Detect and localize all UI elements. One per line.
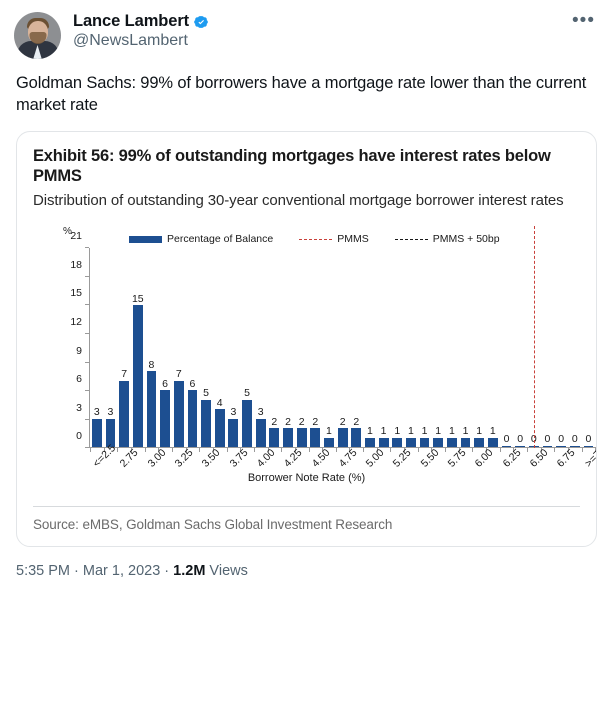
bar[interactable]: 7 [119,381,129,447]
author-display-name[interactable]: Lance Lambert [73,12,189,31]
bar-value-label: 1 [367,426,373,437]
legend-bar-swatch-icon [129,236,162,243]
legend-item-pmms-50bp: PMMS + 50bp [395,233,500,245]
bar-value-label: 8 [149,360,155,371]
bar-value-label: 1 [476,426,482,437]
bar-value-label: 1 [435,426,441,437]
y-axis-tick-mark [85,276,89,277]
bar[interactable]: 2 [269,428,279,447]
bar-slot: 1 [418,248,432,447]
bar[interactable]: 0 [502,446,512,448]
legend-label: Percentage of Balance [167,233,273,245]
bar[interactable]: 5 [242,400,252,447]
bar-value-label: 6 [189,379,195,390]
bar-value-label: 0 [545,434,551,445]
bar[interactable]: 1 [392,438,402,447]
bar-value-label: 2 [353,417,359,428]
bar-value-label: 1 [326,426,332,437]
bar[interactable]: 0 [570,446,580,448]
bar-value-label: 15 [132,294,144,305]
bar[interactable]: 2 [338,428,348,447]
bar-value-label: 1 [422,426,428,437]
bar-value-label: 1 [463,426,469,437]
legend-dashed-line-icon [299,239,332,240]
bar-value-label: 1 [408,426,414,437]
bar-value-label: 7 [121,369,127,380]
bar-slot: 15 [131,248,145,447]
bar-slot: 1 [459,248,473,447]
bar[interactable]: 7 [174,381,184,447]
bar-value-label: 2 [271,417,277,428]
bar-slot: 2 [309,248,323,447]
bar[interactable]: 1 [447,438,457,447]
bar-slot: 3 [227,248,241,447]
bar[interactable]: 3 [256,419,266,447]
bar[interactable]: 8 [147,371,157,447]
bar-slot: 5 [240,248,254,447]
bar-slot: 1 [431,248,445,447]
bar-slot: 0 [500,248,514,447]
bar-slot: 0 [513,248,527,447]
bar[interactable]: 0 [543,446,553,448]
bar-value-label: 1 [394,426,400,437]
bar-value-label: 1 [449,426,455,437]
chart-card-body: Exhibit 56: 99% of outstanding mortgages… [17,132,596,497]
y-axis-tick-mark [85,419,89,420]
y-axis-tick-mark [85,362,89,363]
chart-card[interactable]: Exhibit 56: 99% of outstanding mortgages… [16,131,597,548]
bar-slot: 7 [172,248,186,447]
bar-slot: 1 [595,248,597,447]
bar-slot: 1 [445,248,459,447]
bar-value-label: 2 [312,417,318,428]
bar[interactable]: 0 [515,446,525,448]
bar-slot: 3 [90,248,104,447]
views-count: 1.2M [173,563,205,579]
bar-slot: 2 [349,248,363,447]
bar-value-label: 0 [504,434,510,445]
bar-slot: 1 [363,248,377,447]
bar[interactable]: 1 [420,438,430,447]
y-axis-tick-mark [85,247,89,248]
bar[interactable]: 3 [228,419,238,447]
legend-label: PMMS [337,233,369,245]
bar-slot: 6 [158,248,172,447]
legend-item-pmms: PMMS [299,233,369,245]
bar-slot: 1 [486,248,500,447]
bar-slot: 7 [117,248,131,447]
bar[interactable]: 2 [297,428,307,447]
bar[interactable]: 2 [310,428,320,447]
bar-slot: 0 [554,248,568,447]
bar[interactable]: 1 [488,438,498,447]
bar-slot: 2 [336,248,350,447]
bar-slot: 0 [568,248,582,447]
legend-dashed-line-icon [395,239,428,240]
y-axis-tick-mark [85,304,89,305]
bar[interactable]: 2 [351,428,361,447]
author-block: Lance Lambert @NewsLambert [73,12,572,51]
bar[interactable]: 15 [133,305,143,447]
bar-value-label: 2 [285,417,291,428]
bar[interactable]: 6 [160,390,170,447]
tweet-header: Lance Lambert @NewsLambert ••• [0,0,613,59]
bar[interactable]: 3 [92,419,102,447]
bar[interactable]: 1 [406,438,416,447]
tweet-timestamp: 5:35 PM · Mar 1, 2023 · [16,563,173,579]
y-axis-tick-mark [85,333,89,334]
tweet-footer: 5:35 PM · Mar 1, 2023 · 1.2M Views [0,547,613,579]
avatar[interactable] [14,12,61,59]
bar-slot: 1 [322,248,336,447]
bar-value-label: 5 [203,388,209,399]
x-axis-title: Borrower Note Rate (%) [33,472,580,484]
bar[interactable]: 5 [201,400,211,447]
bar-value-label: 3 [230,407,236,418]
bar[interactable]: 1 [433,438,443,447]
x-label-slot: >=7 [582,453,596,493]
y-axis-tick-label: 6 [76,373,89,385]
y-axis-tick-mark [85,447,89,448]
bar-value-label: 0 [517,434,523,445]
bar-slot: 1 [472,248,486,447]
author-handle[interactable]: @NewsLambert [73,32,572,51]
bar-series: 337158676543532222122111111111100000001 [90,248,597,447]
bar-slot: 4 [213,248,227,447]
bar-slot: 3 [104,248,118,447]
chart-title: Exhibit 56: 99% of outstanding mortgages… [33,146,580,187]
bar-value-label: 7 [176,369,182,380]
bar-value-label: 6 [162,379,168,390]
bar-slot: 2 [268,248,282,447]
bar-slot: 0 [582,248,596,447]
x-label-slot [595,453,597,493]
more-options-icon[interactable]: ••• [572,12,599,26]
bar-slot: 1 [404,248,418,447]
bar[interactable]: 2 [283,428,293,447]
chart-legend: Percentage of Balance PMMS PMMS + 50bp [129,233,500,245]
bar-slot: 2 [295,248,309,447]
y-axis-tick-label: 18 [70,259,89,271]
views-label: Views [205,563,247,579]
y-axis-tick-mark [85,390,89,391]
author-name-row: Lance Lambert [73,12,572,31]
tweet-text: Goldman Sachs: 99% of borrowers have a m… [0,59,613,117]
bar-slot: 1 [377,248,391,447]
y-axis-tick-label: 21 [70,230,89,242]
bar[interactable]: 0 [556,446,566,448]
chart-subtitle: Distribution of outstanding 30-year conv… [33,191,580,211]
bar-slot: 6 [186,248,200,447]
bar-value-label: 2 [340,417,346,428]
bar[interactable]: 0 [584,446,594,448]
y-axis-tick-label: 3 [76,402,89,414]
bar[interactable]: 4 [215,409,225,447]
chart-area: % Percentage of Balance PMMS PMMS + 50bp [33,226,580,496]
bar[interactable]: 1 [379,438,389,447]
bar-slot: 1 [390,248,404,447]
bar[interactable]: 6 [188,390,198,447]
bar-slot: 0 [541,248,555,447]
legend-label: PMMS + 50bp [433,233,500,245]
bar[interactable]: 1 [474,438,484,447]
bar[interactable]: 1 [461,438,471,447]
bar-value-label: 5 [244,388,250,399]
bar-value-label: 1 [490,426,496,437]
y-axis-tick-label: 0 [76,430,89,442]
reference-line-pmms [534,226,535,448]
bar-value-label: 1 [381,426,387,437]
y-axis-tick-label: 12 [70,316,89,328]
bar-value-label: 4 [217,398,223,409]
tweet-card: Lance Lambert @NewsLambert ••• Goldman S… [0,0,613,724]
bar-value-label: 0 [572,434,578,445]
y-axis-tick-label: 15 [70,287,89,299]
chart-source: Source: eMBS, Goldman Sachs Global Inves… [17,507,596,546]
bar-value-label: 2 [299,417,305,428]
bar-slot: 3 [254,248,268,447]
plot-region: 036912151821 337158676543532222122111111… [89,248,597,448]
bar-value-label: 3 [108,407,114,418]
bar-slot: 5 [199,248,213,447]
bar-value-label: 0 [558,434,564,445]
legend-item-percentage-of-balance: Percentage of Balance [129,233,273,245]
bar[interactable]: 1 [324,438,334,447]
bar-value-label: 3 [94,407,100,418]
bar[interactable]: 1 [365,438,375,447]
bar-value-label: 0 [586,434,592,445]
verified-badge-icon [193,14,209,30]
bar-slot: 8 [145,248,159,447]
bar-slot: 2 [281,248,295,447]
bar-value-label: 3 [258,407,264,418]
y-axis-tick-label: 9 [76,345,89,357]
